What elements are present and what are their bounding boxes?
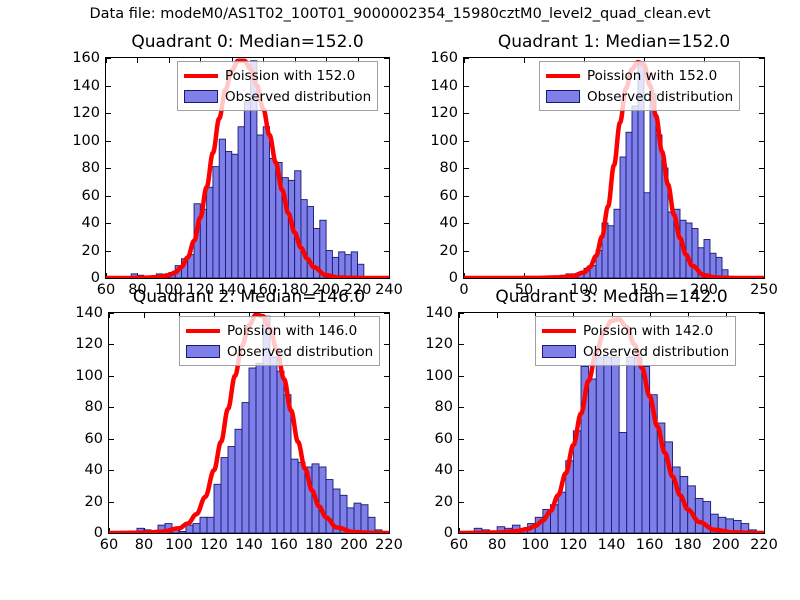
x-tick-mark (764, 528, 765, 533)
x-tick-label: 80 (135, 537, 153, 553)
axes-title: Quadrant 0: Median=152.0 (105, 32, 390, 52)
y-tick-label: 20 (82, 243, 105, 259)
y-tick-label: 140 (430, 78, 463, 94)
y-tick-label: 20 (85, 494, 108, 510)
legend[interactable]: Poission with 152.0Observed distribution (177, 61, 378, 111)
x-tick-mark (389, 273, 390, 278)
legend-label: Observed distribution (587, 89, 733, 105)
x-tick-label: 160 (636, 537, 664, 553)
legend-label: Poission with 146.0 (227, 323, 357, 339)
x-tick-mark (389, 58, 390, 63)
x-tick-label: 100 (165, 537, 193, 553)
legend-item-observed: Observed distribution (186, 342, 373, 361)
y-tick-mark (106, 278, 111, 279)
y-tick-label: 60 (82, 188, 105, 204)
x-tick-mark (764, 58, 765, 63)
y-tick-label: 120 (75, 336, 108, 352)
y-tick-label: 20 (435, 494, 458, 510)
x-tick-label: 120 (560, 537, 588, 553)
matplotlib-figure: Data file: modeM0/AS1T02_100T01_90000023… (0, 0, 800, 600)
legend-patch-swatch-icon (186, 345, 220, 358)
x-tick-label: 140 (235, 537, 263, 553)
legend-label: Observed distribution (225, 89, 371, 105)
x-tick-label: 100 (521, 537, 549, 553)
y-tick-label: 60 (85, 431, 108, 447)
y-tick-label: 80 (440, 160, 463, 176)
y-tick-label: 160 (72, 50, 105, 66)
x-tick-mark (764, 273, 765, 278)
x-tick-mark (389, 313, 390, 318)
y-tick-mark (384, 533, 389, 534)
y-tick-label: 60 (435, 431, 458, 447)
x-tick-label: 200 (712, 537, 740, 553)
x-tick-label: 120 (200, 537, 228, 553)
x-tick-label: 140 (598, 537, 626, 553)
legend-line-swatch-icon (184, 74, 218, 78)
y-tick-label: 40 (85, 462, 108, 478)
legend-line-swatch-icon (186, 329, 220, 333)
x-tick-label: 200 (340, 537, 368, 553)
y-tick-label: 40 (82, 215, 105, 231)
y-tick-label: 120 (425, 336, 458, 352)
axes-title: Quadrant 2: Median=146.0 (108, 287, 390, 307)
plot-area: Poission with 146.0Observed distribution (108, 312, 390, 534)
x-tick-mark (764, 313, 765, 318)
y-tick-label: 100 (72, 133, 105, 149)
legend-item-observed: Observed distribution (184, 87, 371, 106)
y-tick-label: 20 (440, 243, 463, 259)
legend-line-swatch-icon (542, 329, 576, 333)
y-tick-label: 100 (425, 368, 458, 384)
y-tick-mark (759, 278, 764, 279)
x-tick-mark (389, 528, 390, 533)
x-tick-label: 180 (305, 537, 333, 553)
legend-patch-swatch-icon (542, 345, 576, 358)
y-tick-mark (459, 533, 464, 534)
figure-suptitle: Data file: modeM0/AS1T02_100T01_90000023… (0, 6, 800, 22)
y-tick-label: 100 (75, 368, 108, 384)
plot-area: Poission with 152.0Observed distribution (105, 57, 390, 279)
legend-patch-swatch-icon (546, 90, 580, 103)
plot-area: Poission with 152.0Observed distribution (463, 57, 765, 279)
legend-item-observed: Observed distribution (546, 87, 733, 106)
y-tick-label: 100 (430, 133, 463, 149)
legend[interactable]: Poission with 146.0Observed distribution (179, 316, 380, 366)
legend-item-poisson: Poission with 152.0 (546, 66, 733, 85)
y-tick-label: 140 (75, 305, 108, 321)
y-tick-mark (759, 533, 764, 534)
subplot-quadrant-2: Quadrant 2: Median=146.0Poission with 14… (108, 312, 390, 534)
legend-item-poisson: Poission with 146.0 (186, 321, 373, 340)
x-tick-label: 80 (488, 537, 506, 553)
y-tick-label: 160 (430, 50, 463, 66)
y-tick-label: 60 (440, 188, 463, 204)
legend-label: Poission with 152.0 (587, 68, 717, 84)
axes-title: Quadrant 3: Median=142.0 (458, 287, 765, 307)
axes-title: Quadrant 1: Median=152.0 (463, 32, 765, 52)
legend-label: Observed distribution (583, 344, 729, 360)
subplot-quadrant-3: Quadrant 3: Median=142.0Poission with 14… (458, 312, 765, 534)
legend[interactable]: Poission with 142.0Observed distribution (535, 316, 736, 366)
y-tick-label: 140 (425, 305, 458, 321)
subplot-quadrant-1: Quadrant 1: Median=152.0Poission with 15… (463, 57, 765, 279)
legend-item-poisson: Poission with 142.0 (542, 321, 729, 340)
y-tick-label: 80 (85, 399, 108, 415)
x-tick-label: 220 (375, 537, 403, 553)
y-tick-label: 40 (435, 462, 458, 478)
legend-label: Observed distribution (227, 344, 373, 360)
legend-label: Poission with 142.0 (583, 323, 713, 339)
y-tick-label: 80 (435, 399, 458, 415)
x-tick-label: 60 (450, 537, 468, 553)
y-tick-mark (109, 533, 114, 534)
legend[interactable]: Poission with 152.0Observed distribution (539, 61, 740, 111)
y-tick-mark (384, 278, 389, 279)
y-tick-label: 40 (440, 215, 463, 231)
y-tick-mark (464, 278, 469, 279)
x-tick-label: 60 (100, 537, 118, 553)
y-tick-label: 80 (82, 160, 105, 176)
legend-item-observed: Observed distribution (542, 342, 729, 361)
plot-area: Poission with 142.0Observed distribution (458, 312, 765, 534)
x-tick-label: 220 (750, 537, 778, 553)
legend-line-swatch-icon (546, 74, 580, 78)
subplot-quadrant-0: Quadrant 0: Median=152.0Poission with 15… (105, 57, 390, 279)
y-tick-label: 120 (72, 105, 105, 121)
y-tick-label: 120 (430, 105, 463, 121)
x-tick-label: 160 (270, 537, 298, 553)
y-tick-label: 140 (72, 78, 105, 94)
legend-label: Poission with 152.0 (225, 68, 355, 84)
legend-patch-swatch-icon (184, 90, 218, 103)
legend-item-poisson: Poission with 152.0 (184, 66, 371, 85)
x-tick-label: 180 (674, 537, 702, 553)
